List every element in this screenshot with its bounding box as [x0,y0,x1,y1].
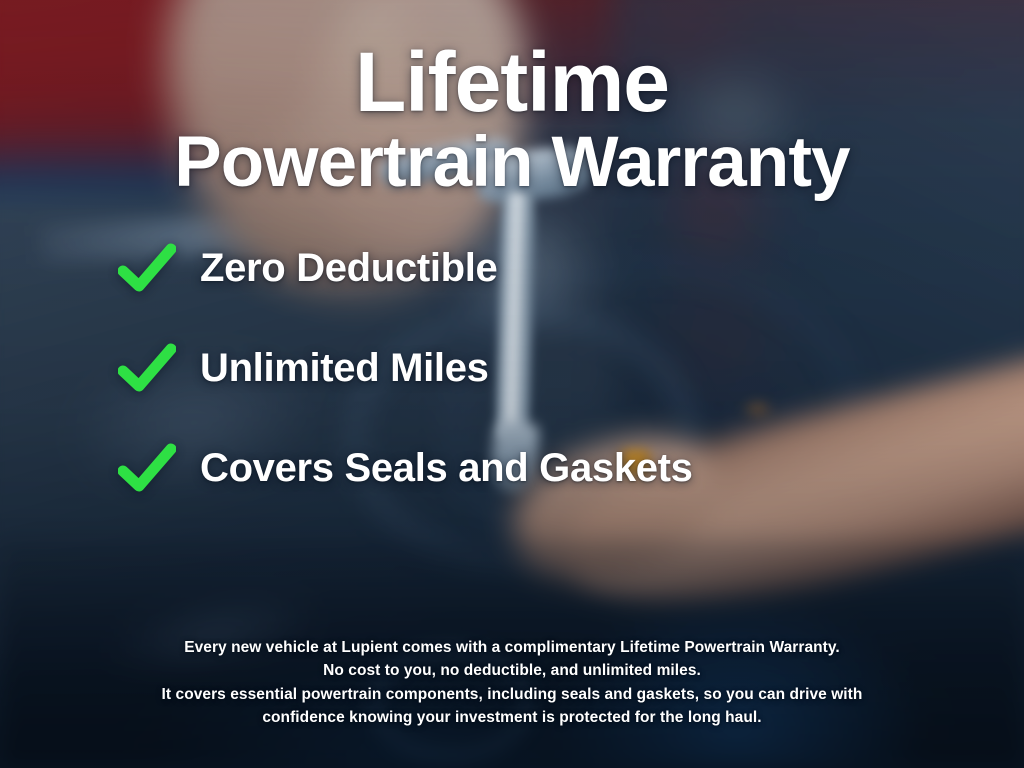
benefit-item-covers-seals-and-gaskets: Covers Seals and Gaskets [118,442,1024,494]
benefit-label: Covers Seals and Gaskets [200,448,693,488]
check-icon [118,342,176,394]
benefits-list: Zero Deductible Unlimited Miles Covers S… [0,242,1024,494]
benefit-item-unlimited-miles: Unlimited Miles [118,342,1024,394]
banner-content: Lifetime Powertrain Warranty Zero Deduct… [0,0,1024,768]
headline-line-one: Lifetime [0,42,1024,123]
footer-line-four: confidence knowing your investment is pr… [60,706,964,730]
lifetime-powertrain-warranty-banner: Lifetime Powertrain Warranty Zero Deduct… [0,0,1024,768]
benefit-item-zero-deductible: Zero Deductible [118,242,1024,294]
benefit-label: Unlimited Miles [200,348,489,388]
check-icon [118,242,176,294]
benefit-label: Zero Deductible [200,248,497,288]
footer-line-one: Every new vehicle at Lupient comes with … [60,636,964,660]
footer-line-two: No cost to you, no deductible, and unlim… [60,659,964,683]
check-icon [118,442,176,494]
footer-line-three: It covers essential powertrain component… [60,683,964,707]
footer-description: Every new vehicle at Lupient comes with … [0,636,1024,730]
headline-line-two: Powertrain Warranty [0,127,1024,198]
